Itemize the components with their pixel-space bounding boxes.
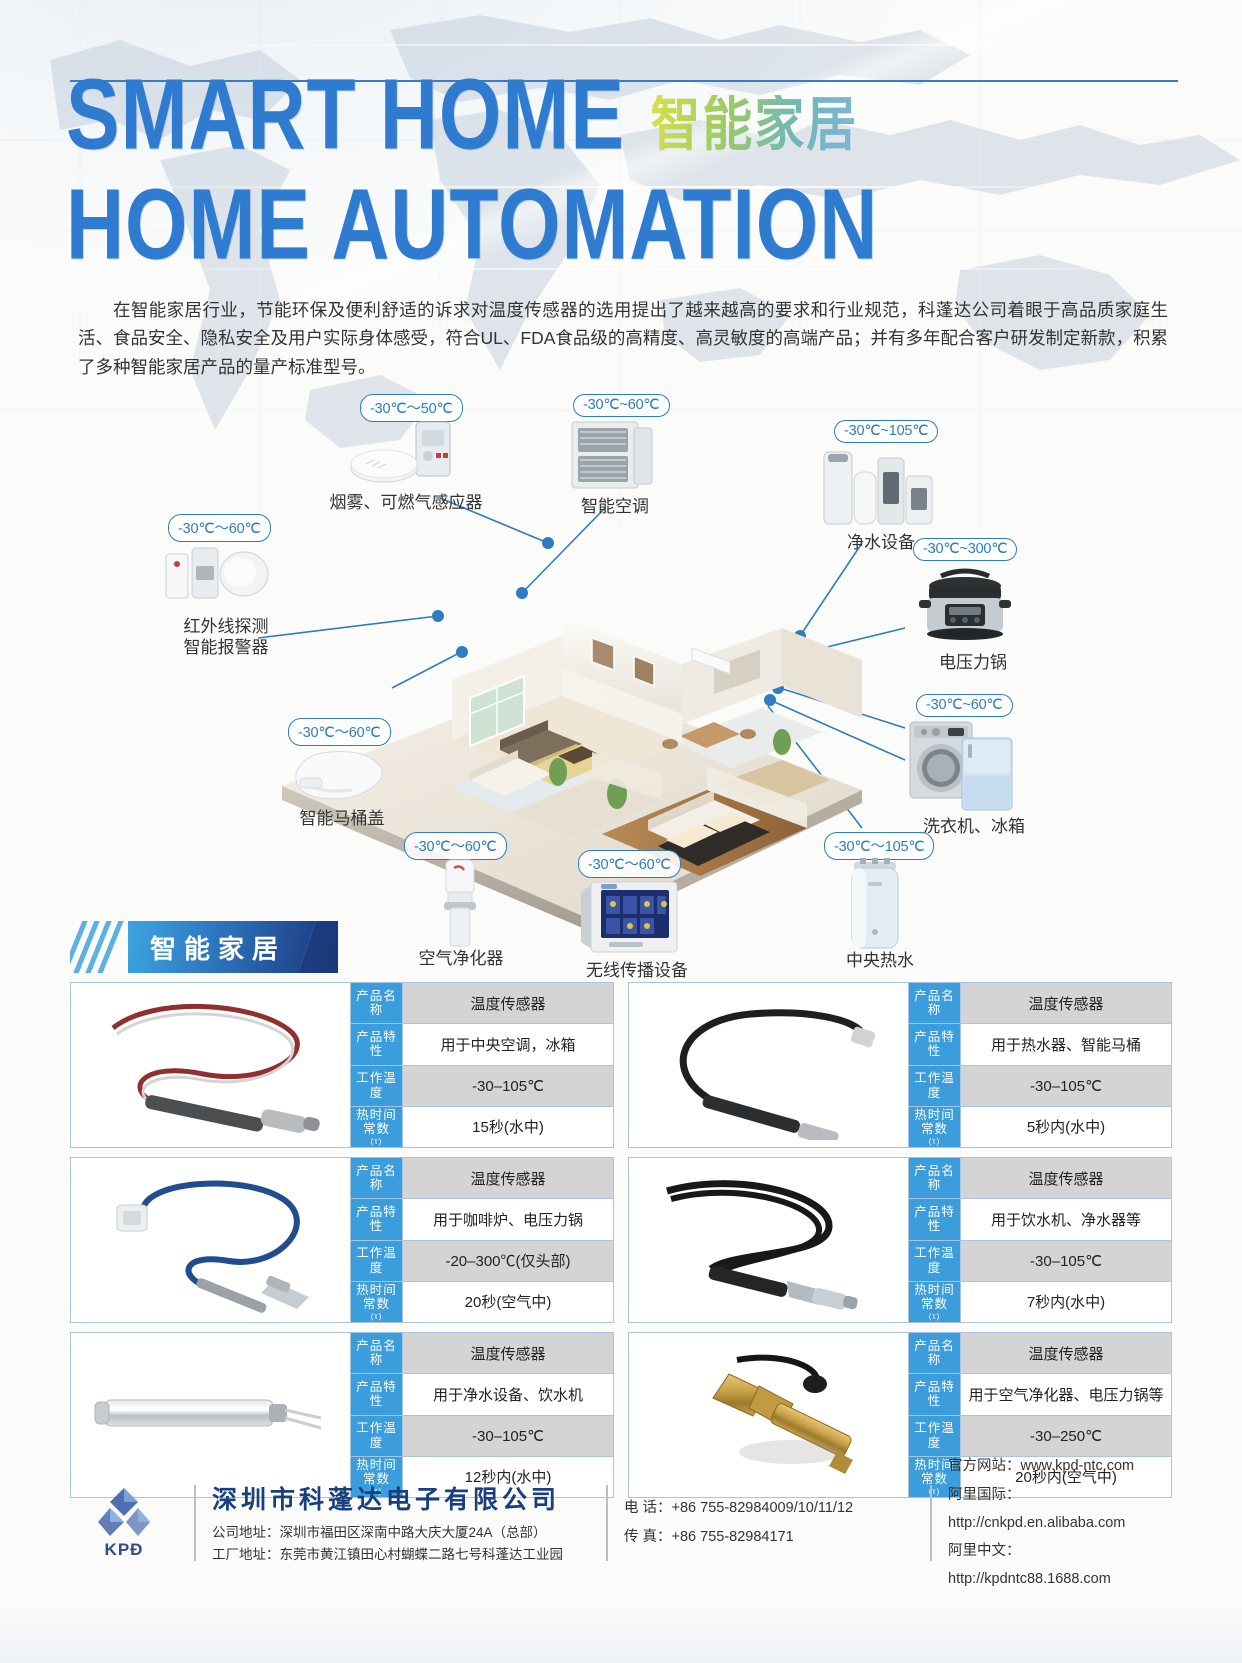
page-title-en-line2: HOME AUTOMATION bbox=[66, 179, 878, 272]
cell-time-constant: 5秒内(水中) bbox=[961, 1107, 1171, 1147]
table-row: 产品特性用于中央空调，冰箱 bbox=[351, 1024, 613, 1065]
pill-wireless-gateway: -30℃～60℃ bbox=[578, 850, 681, 878]
table-row: 产品名称温度传感器 bbox=[351, 983, 613, 1024]
product-photo-red-wire-probe bbox=[70, 982, 351, 1148]
cell-temperature: -30–105℃ bbox=[961, 1066, 1171, 1106]
row-header-temperature: 工作温度 bbox=[909, 1416, 961, 1456]
row-header-time-constant: 热时间常数(τ) bbox=[909, 1282, 961, 1322]
footer-contact-block: 电 话：+86 755-82984009/10/11/12 传 真：+86 75… bbox=[624, 1494, 914, 1552]
pill-central-hot-water: -30℃～105℃ bbox=[824, 832, 934, 860]
wireless-gateway-icon bbox=[575, 876, 685, 963]
product-spec-table: 产品名称温度传感器 产品特性用于中央空调，冰箱 工作温度-30–105℃ 热时间… bbox=[351, 982, 614, 1148]
alibaba-china[interactable]: 阿里中文：http://kpdntc88.1688.com bbox=[948, 1537, 1172, 1594]
row-header-feature: 产品特性 bbox=[909, 1199, 961, 1239]
tau-superscript: (τ) bbox=[371, 1312, 383, 1321]
intro-paragraph: 在智能家居行业，节能环保及便利舒适的诉求对温度传感器的选用提出了越来越高的要求和… bbox=[78, 296, 1168, 381]
label-smart-toilet-seat: 智能马桶盖 bbox=[272, 808, 412, 829]
cell-time-constant: 7秒内(水中) bbox=[961, 1282, 1171, 1322]
cell-feature: 用于热水器、智能马桶 bbox=[961, 1024, 1171, 1064]
streak-1 bbox=[0, 44, 1242, 46]
air-conditioner-outdoor-unit-icon bbox=[568, 418, 658, 499]
pill-smart-toilet-seat: -30℃～60℃ bbox=[288, 718, 391, 746]
cell-feature: 用于饮水机、净水器等 bbox=[961, 1199, 1171, 1239]
pill-smoke-gas-sensor: -30℃～50℃ bbox=[360, 394, 463, 422]
row-header-temperature: 工作温度 bbox=[351, 1241, 403, 1281]
table-row: 产品特性用于热水器、智能马桶 bbox=[909, 1024, 1171, 1065]
row-header-feature: 产品特性 bbox=[351, 1199, 403, 1239]
tau-superscript: (τ) bbox=[929, 1312, 941, 1321]
label-central-hot-water: 中央热水 bbox=[820, 950, 940, 971]
row-header-temperature: 工作温度 bbox=[351, 1066, 403, 1106]
row-header-name: 产品名称 bbox=[909, 1333, 961, 1373]
label-infrared-alarm: 红外线探测 智能报警器 bbox=[146, 616, 306, 659]
table-row: 工作温度-30–105℃ bbox=[909, 1066, 1171, 1107]
section-title: 智能家居 bbox=[150, 929, 286, 966]
pill-air-purifier: -30℃～60℃ bbox=[404, 832, 507, 860]
pill-smart-air-conditioner: -30℃~60℃ bbox=[573, 394, 670, 417]
label-electric-pressure-cooker: 电压力锅 bbox=[908, 652, 1038, 673]
label-smoke-gas-sensor: 烟雾、可燃气感应器 bbox=[296, 492, 516, 513]
table-row: 产品名称温度传感器 bbox=[909, 983, 1171, 1024]
page-title-cn: 智能家居 bbox=[650, 95, 858, 154]
cell-temperature: -30–105℃ bbox=[403, 1416, 613, 1456]
table-row: 工作温度-20–300℃(仅头部) bbox=[351, 1241, 613, 1282]
cell-name: 温度传感器 bbox=[961, 1158, 1171, 1198]
table-row: 产品特性用于净水设备、饮水机 bbox=[351, 1374, 613, 1415]
pill-electric-pressure-cooker: -30℃~300℃ bbox=[913, 538, 1017, 561]
pill-water-purifier: -30℃~105℃ bbox=[834, 420, 938, 443]
pill-infrared-alarm: -30℃～60℃ bbox=[168, 514, 271, 542]
product-photo-blue-wire-flat-probe bbox=[70, 1157, 351, 1323]
product-spec-table: 产品名称温度传感器 产品特性用于咖啡炉、电压力锅 工作温度-20–300℃(仅头… bbox=[351, 1157, 614, 1323]
table-row: 工作温度-30–250℃ bbox=[909, 1416, 1171, 1457]
hatch-decoration-icon bbox=[70, 921, 128, 973]
infrared-alarm-icon bbox=[162, 540, 282, 611]
smart-toilet-seat-icon bbox=[284, 744, 390, 807]
row-header-name: 产品名称 bbox=[351, 1158, 403, 1198]
company-logo: KPĐ bbox=[70, 1486, 178, 1560]
cell-time-constant: 20秒(空气中) bbox=[403, 1282, 613, 1322]
section-banner-smart-home: 智能家居 bbox=[70, 921, 338, 973]
row-header-name: 产品名称 bbox=[351, 983, 403, 1023]
office-address: 公司地址：深圳市福田区深南中路大庆大厦24A（总部） bbox=[212, 1522, 590, 1544]
factory-address: 工厂地址：东莞市黄江镇田心村蝴蝶二路七号科蓬达工业园 bbox=[212, 1544, 590, 1566]
table-row: 热时间常数(τ)5秒内(水中) bbox=[909, 1107, 1171, 1147]
label-air-purifier: 空气净化器 bbox=[396, 948, 526, 969]
row-header-feature: 产品特性 bbox=[909, 1374, 961, 1414]
company-name: 深圳市科蓬达电子有限公司 bbox=[212, 1480, 590, 1516]
official-website[interactable]: 官方网站：www.kpd-ntc.com bbox=[948, 1452, 1172, 1480]
product-photo-black-cable-hex-probe bbox=[628, 1157, 909, 1323]
table-row: 热时间常数(τ)7秒内(水中) bbox=[909, 1282, 1171, 1322]
air-purifier-icon bbox=[430, 858, 490, 953]
cell-temperature: -30–250℃ bbox=[961, 1416, 1171, 1456]
section-banner-box: 智能家居 bbox=[128, 921, 316, 973]
row-header-temperature: 工作温度 bbox=[909, 1241, 961, 1281]
kpd-wordmark: KPĐ bbox=[105, 1540, 144, 1560]
row-header-feature: 产品特性 bbox=[909, 1024, 961, 1064]
tau-superscript: (τ) bbox=[929, 1137, 941, 1146]
cell-temperature: -20–300℃(仅头部) bbox=[403, 1241, 613, 1281]
product-card[interactable]: 产品名称温度传感器 产品特性用于咖啡炉、电压力锅 工作温度-20–300℃(仅头… bbox=[70, 1157, 614, 1323]
row-header-time-constant: 热时间常数(τ) bbox=[909, 1107, 961, 1147]
row-header-name: 产品名称 bbox=[351, 1333, 403, 1373]
cell-time-constant: 15秒(水中) bbox=[403, 1107, 613, 1147]
table-row: 产品特性用于咖啡炉、电压力锅 bbox=[351, 1199, 613, 1240]
footer-divider-1 bbox=[194, 1485, 196, 1561]
row-header-time-constant: 热时间常数(τ) bbox=[351, 1107, 403, 1147]
cell-feature: 用于净水设备、饮水机 bbox=[403, 1374, 613, 1414]
pressure-cooker-icon bbox=[915, 564, 1015, 649]
smart-home-diagram: -30℃～50℃ 烟雾、可燃气感应器 -30℃~60℃ 智能空调 -30℃~10… bbox=[0, 388, 1242, 988]
page-title-en-line1: SMART HOME bbox=[66, 69, 625, 162]
product-spec-table: 产品名称温度传感器 产品特性用于热水器、智能马桶 工作温度-30–105℃ 热时… bbox=[909, 982, 1172, 1148]
row-header-temperature: 工作温度 bbox=[909, 1066, 961, 1106]
washer-fridge-icon bbox=[906, 718, 1026, 819]
product-card[interactable]: 产品名称温度传感器 产品特性用于饮水机、净水器等 工作温度-30–105℃ 热时… bbox=[628, 1157, 1172, 1323]
water-purifier-icon bbox=[820, 446, 940, 533]
table-row: 产品名称温度传感器 bbox=[909, 1333, 1171, 1374]
product-spec-table: 产品名称温度传感器 产品特性用于饮水机、净水器等 工作温度-30–105℃ 热时… bbox=[909, 1157, 1172, 1323]
table-row: 工作温度-30–105℃ bbox=[351, 1416, 613, 1457]
table-row: 产品特性用于饮水机、净水器等 bbox=[909, 1199, 1171, 1240]
table-row: 产品特性用于空气净化器、电压力锅等 bbox=[909, 1374, 1171, 1415]
kpd-diamond-icon bbox=[98, 1486, 150, 1538]
footer: KPĐ 深圳市科蓬达电子有限公司 公司地址：深圳市福田区深南中路大庆大厦24A（… bbox=[70, 1468, 1172, 1578]
table-row: 工作温度-30–105℃ bbox=[351, 1066, 613, 1107]
table-row: 产品名称温度传感器 bbox=[909, 1158, 1171, 1199]
telephone: 电 话：+86 755-82984009/10/11/12 bbox=[624, 1494, 914, 1523]
row-header-name: 产品名称 bbox=[909, 983, 961, 1023]
table-row: 产品名称温度传感器 bbox=[351, 1333, 613, 1374]
page-title-block: SMART HOME 智能家居 HOME AUTOMATION bbox=[66, 86, 895, 273]
row-header-feature: 产品特性 bbox=[351, 1374, 403, 1414]
cell-temperature: -30–105℃ bbox=[961, 1241, 1171, 1281]
cell-temperature: -30–105℃ bbox=[403, 1066, 613, 1106]
footer-web-block: 官方网站：www.kpd-ntc.com 阿里国际：http://cnkpd.e… bbox=[948, 1452, 1172, 1593]
product-card[interactable]: 产品名称温度传感器 产品特性用于中央空调，冰箱 工作温度-30–105℃ 热时间… bbox=[70, 982, 614, 1148]
footer-divider-2 bbox=[606, 1485, 608, 1561]
cell-name: 温度传感器 bbox=[403, 1158, 613, 1198]
table-row: 产品名称温度传感器 bbox=[351, 1158, 613, 1199]
cell-feature: 用于咖啡炉、电压力锅 bbox=[403, 1199, 613, 1239]
row-header-time-constant: 热时间常数(τ) bbox=[351, 1282, 403, 1322]
central-hot-water-tank-icon bbox=[840, 858, 910, 959]
product-photo-black-cable-threaded-probe bbox=[628, 982, 909, 1148]
footer-divider-3 bbox=[930, 1485, 932, 1561]
product-grid: 产品名称温度传感器 产品特性用于中央空调，冰箱 工作温度-30–105℃ 热时间… bbox=[70, 982, 1172, 1498]
cell-feature: 用于空气净化器、电压力锅等 bbox=[961, 1374, 1171, 1414]
label-wireless-gateway: 无线传播设备 bbox=[562, 960, 712, 981]
row-header-feature: 产品特性 bbox=[351, 1024, 403, 1064]
label-smart-air-conditioner: 智能空调 bbox=[540, 496, 690, 517]
alibaba-international[interactable]: 阿里国际：http://cnkpd.en.alibaba.com bbox=[948, 1481, 1172, 1538]
pill-washer-fridge: -30℃~60℃ bbox=[916, 694, 1013, 717]
table-row: 热时间常数(τ)20秒(空气中) bbox=[351, 1282, 613, 1322]
cell-name: 温度传感器 bbox=[403, 1333, 613, 1373]
table-row: 热时间常数(τ)15秒(水中) bbox=[351, 1107, 613, 1147]
fax: 传 真：+86 755-82984171 bbox=[624, 1523, 914, 1552]
cell-feature: 用于中央空调，冰箱 bbox=[403, 1024, 613, 1064]
cell-name: 温度传感器 bbox=[961, 1333, 1171, 1373]
row-header-temperature: 工作温度 bbox=[351, 1416, 403, 1456]
table-row: 工作温度-30–105℃ bbox=[909, 1241, 1171, 1282]
footer-background bbox=[0, 1603, 1242, 1663]
tau-superscript: (τ) bbox=[371, 1137, 383, 1146]
footer-company-block: 深圳市科蓬达电子有限公司 公司地址：深圳市福田区深南中路大庆大厦24A（总部） … bbox=[212, 1480, 590, 1567]
smoke-gas-sensor-icon bbox=[348, 420, 478, 495]
cell-name: 温度传感器 bbox=[961, 983, 1171, 1023]
product-card[interactable]: 产品名称温度传感器 产品特性用于热水器、智能马桶 工作温度-30–105℃ 热时… bbox=[628, 982, 1172, 1148]
row-header-name: 产品名称 bbox=[909, 1158, 961, 1198]
cell-name: 温度传感器 bbox=[403, 983, 613, 1023]
